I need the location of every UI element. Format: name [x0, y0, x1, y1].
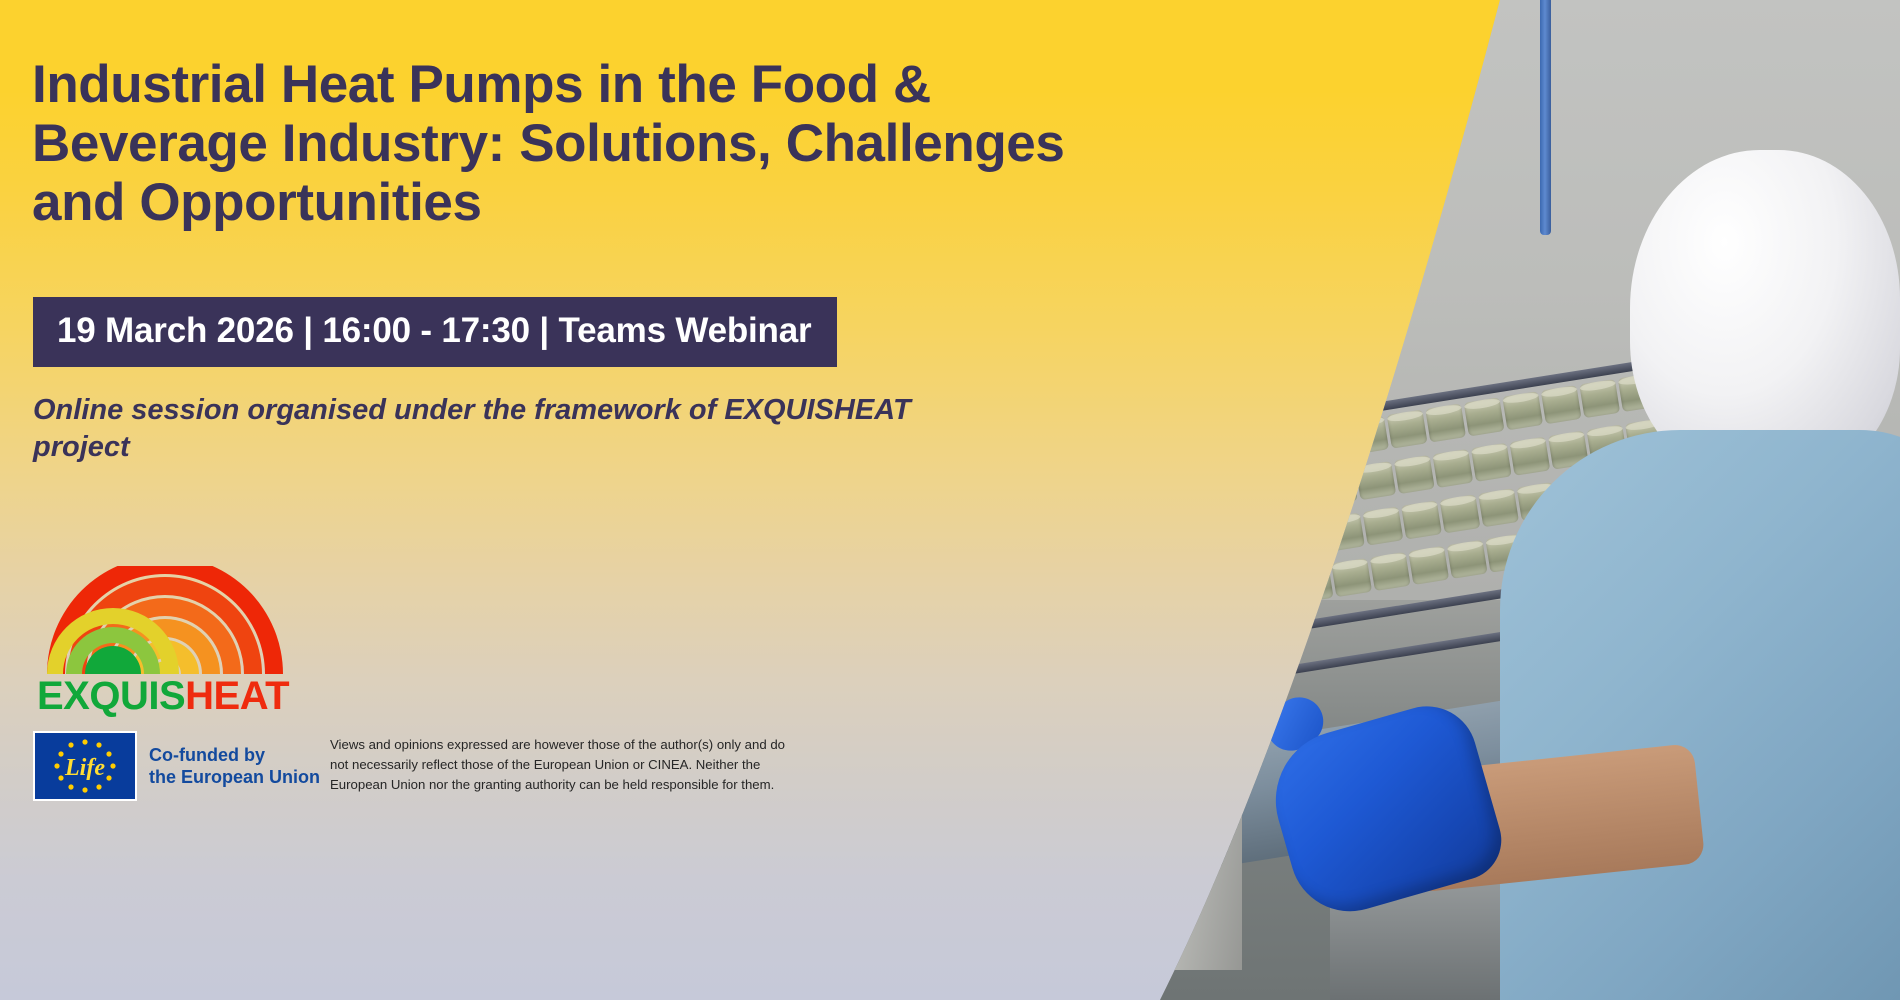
logo-word-heat: HEAT — [185, 674, 289, 718]
exquisheat-logo: EXQUISHEAT — [35, 566, 290, 716]
eu-text-line1: Co-funded by — [149, 744, 320, 766]
disclaimer-text: Views and opinions expressed are however… — [330, 735, 870, 795]
blue-pipe — [1540, 0, 1551, 235]
text-content: Industrial Heat Pumps in the Food & Beve… — [0, 0, 1100, 1000]
event-subtitle: Online session organised under the frame… — [33, 392, 953, 466]
eu-flag-life-icon: Life — [33, 731, 137, 801]
svg-text:Life: Life — [64, 755, 105, 781]
worker-shirt — [1500, 430, 1900, 1000]
disclaimer-line-2: not necessarily reflect those of the Eur… — [330, 755, 870, 775]
eu-funding-text: Co-funded by the European Union — [149, 744, 320, 788]
event-title: Industrial Heat Pumps in the Food & Beve… — [32, 55, 1092, 232]
event-promo-banner: Industrial Heat Pumps in the Food & Beve… — [0, 0, 1900, 1000]
logo-word-exquis: EXQUIS — [37, 674, 185, 718]
eu-funding-block: Life Co-funded by the European Union — [33, 735, 323, 797]
event-date-badge: 19 March 2026 | 16:00 - 17:30 | Teams We… — [33, 297, 837, 367]
logo-wordmark: EXQUISHEAT — [37, 674, 289, 719]
rainbow-arc-icon — [35, 566, 290, 678]
disclaimer-line-1: Views and opinions expressed are however… — [330, 735, 870, 755]
eu-text-line2: the European Union — [149, 766, 320, 788]
disclaimer-line-3: European Union nor the granting authorit… — [330, 775, 870, 795]
